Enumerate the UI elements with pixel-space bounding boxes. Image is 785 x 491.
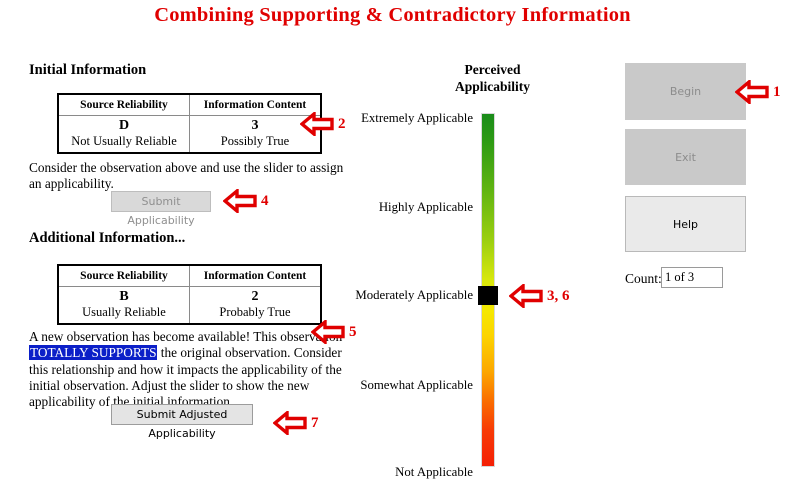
additional-source-reliability-cell: B Usually Reliable [58,287,190,325]
annotation-1: 1 [735,80,781,104]
submit-applicability-button[interactable]: Submit Applicability [111,191,211,212]
additional-info-text: A new observation has become available! … [29,329,359,410]
exit-button[interactable]: Exit [625,129,746,185]
table-header-row: Source Reliability Information Content [58,265,321,287]
help-button-label: Help [673,218,698,231]
additional-info-table: Source Reliability Information Content B… [57,264,322,325]
additional-source-reliability-code: B [65,289,183,305]
additional-information-content-desc: Probably True [196,305,314,320]
column-header-information-content: Information Content [190,265,322,287]
annotation-5-number: 5 [349,324,357,341]
help-button[interactable]: Help [625,196,746,252]
annotation-3-6: 3, 6 [509,284,570,308]
annotation-5: 5 [311,320,357,344]
left-arrow-icon [300,112,334,136]
initial-source-reliability-cell: D Not Usually Reliable [58,116,190,154]
annotation-7: 7 [273,411,319,435]
left-arrow-icon [735,80,769,104]
slider-handle[interactable] [478,286,498,305]
additional-information-content-code: 2 [196,289,314,305]
annotation-2-number: 2 [338,116,346,133]
additional-source-reliability-desc: Usually Reliable [65,305,183,320]
slider-label-somewhat-applicable: Somewhat Applicable [318,378,473,393]
column-header-source-reliability: Source Reliability [58,94,190,116]
initial-information-content-code: 3 [196,118,314,134]
page-title: Combining Supporting & Contradictory Inf… [0,4,785,27]
table-row: B Usually Reliable 2 Probably True [58,287,321,325]
column-header-source-reliability: Source Reliability [58,265,190,287]
exit-button-label: Exit [675,151,696,164]
slider-title-line1: Perceived [465,62,521,77]
annotation-7-number: 7 [311,415,319,432]
left-arrow-icon [509,284,543,308]
begin-button-label: Begin [670,85,701,98]
initial-source-reliability-code: D [65,118,183,134]
initial-info-table: Source Reliability Information Content D… [57,93,322,154]
begin-button[interactable]: Begin [625,63,746,120]
left-arrow-icon [223,189,257,213]
submit-adjusted-applicability-button[interactable]: Submit Adjusted Applicability [111,404,253,425]
additional-information-content-cell: 2 Probably True [190,287,322,325]
additional-information-heading: Additional Information... [29,230,185,247]
initial-information-content-desc: Possibly True [196,134,314,149]
annotation-1-number: 1 [773,84,781,101]
left-arrow-icon [273,411,307,435]
table-row: D Not Usually Reliable 3 Possibly True [58,116,321,154]
annotation-2: 2 [300,112,346,136]
initial-source-reliability-desc: Not Usually Reliable [65,134,183,149]
slider-title: Perceived Applicability [420,61,565,95]
table-header-row: Source Reliability Information Content [58,94,321,116]
slider-label-not-applicable: Not Applicable [318,465,473,480]
relationship-highlight: TOTALLY SUPPORTS [29,345,157,360]
annotation-4: 4 [223,189,269,213]
slider-title-line2: Applicability [455,79,530,94]
count-label: Count: [625,271,662,287]
left-arrow-icon [311,320,345,344]
initial-information-heading: Initial Information [29,62,146,79]
additional-info-text-before: A new observation has become available! … [29,329,342,344]
initial-instruction-text: Consider the observation above and use t… [29,160,349,193]
count-value-field[interactable]: 1 of 3 [661,267,723,288]
slider-label-moderately-applicable: Moderately Applicable [318,288,473,303]
slider-label-highly-applicable: Highly Applicable [318,200,473,215]
annotation-4-number: 4 [261,193,269,210]
annotation-3-6-number: 3, 6 [547,288,570,305]
